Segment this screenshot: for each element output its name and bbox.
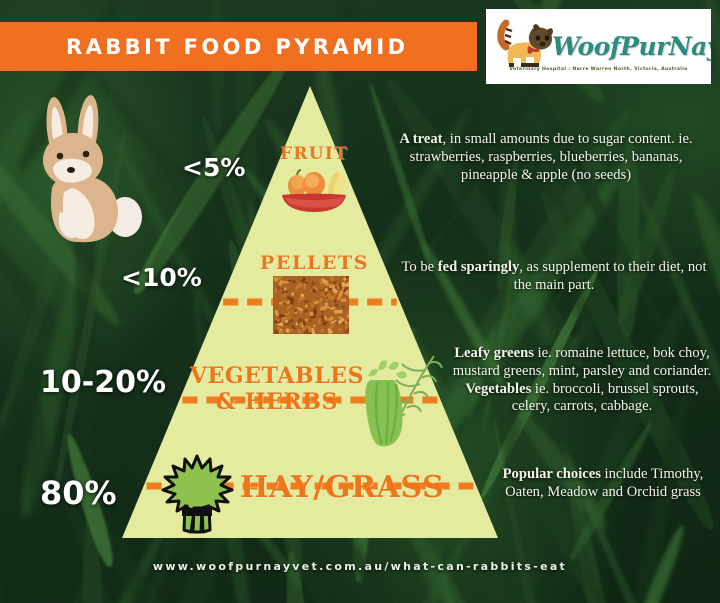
description-fruit-lead: A treat — [399, 131, 442, 147]
logo-wordmark: WoofPurNay — [552, 32, 711, 61]
level-label-fruit: FRUIT — [280, 144, 348, 164]
level-label-pellets: PELLETS — [260, 252, 369, 274]
hay-bundle-icon — [158, 454, 236, 534]
description-veg-part2: ie. broccoli, brussel sprouts, celery, c… — [512, 381, 699, 415]
description-pellets-rest: , as supplement to their diet, not the m… — [514, 259, 707, 293]
percent-fruit: <5% — [182, 153, 245, 182]
description-pellets: To be fed sparingly, as supplement to th… — [396, 259, 712, 295]
infographic-poster: RABBIT FOOD PYRAMID WoofPurNay Veterinar… — [0, 0, 720, 603]
title-bar: RABBIT FOOD PYRAMID — [0, 22, 477, 71]
description-vegetables: Leafy greens ie. romaine lettuce, bok ch… — [448, 345, 716, 416]
percent-pellets: <10% — [121, 263, 202, 292]
description-pellets-lead: To be — [401, 259, 437, 275]
description-pellets-bold: fed sparingly — [438, 259, 520, 275]
description-fruit-rest: , in small amounts due to sugar content.… — [410, 131, 693, 183]
percent-hay: 80% — [40, 474, 117, 512]
level-label-vegetables: VEGETABLES & HERBS — [182, 364, 372, 416]
page-title: RABBIT FOOD PYRAMID — [66, 35, 408, 59]
description-veg-bold1: Leafy greens — [454, 345, 534, 361]
veg-label-line2: & HERBS — [216, 389, 338, 415]
description-hay-bold: Popular choices — [503, 466, 601, 482]
logo: WoofPurNay Veterinary Hospital : Narre W… — [486, 9, 711, 84]
description-fruit: A treat, in small amounts due to sugar c… — [382, 131, 710, 184]
fruit-bowl-icon — [274, 162, 354, 216]
pellets-icon — [273, 276, 349, 334]
veg-label-line1: VEGETABLES — [190, 363, 364, 389]
celery-rosemary-icon — [356, 350, 448, 454]
description-veg-bold2: Vegetables — [465, 381, 531, 397]
description-hay: Popular choices include Timothy, Oaten, … — [492, 466, 714, 502]
logo-tagline: Veterinary Hospital : Narre Warren North… — [486, 67, 711, 72]
footer-url[interactable]: www.woofpurnayvet.com.au/what-can-rabbit… — [0, 560, 720, 573]
percent-vegetables: 10-20% — [40, 365, 166, 400]
level-label-hay: HAY/GRASS — [240, 470, 444, 505]
